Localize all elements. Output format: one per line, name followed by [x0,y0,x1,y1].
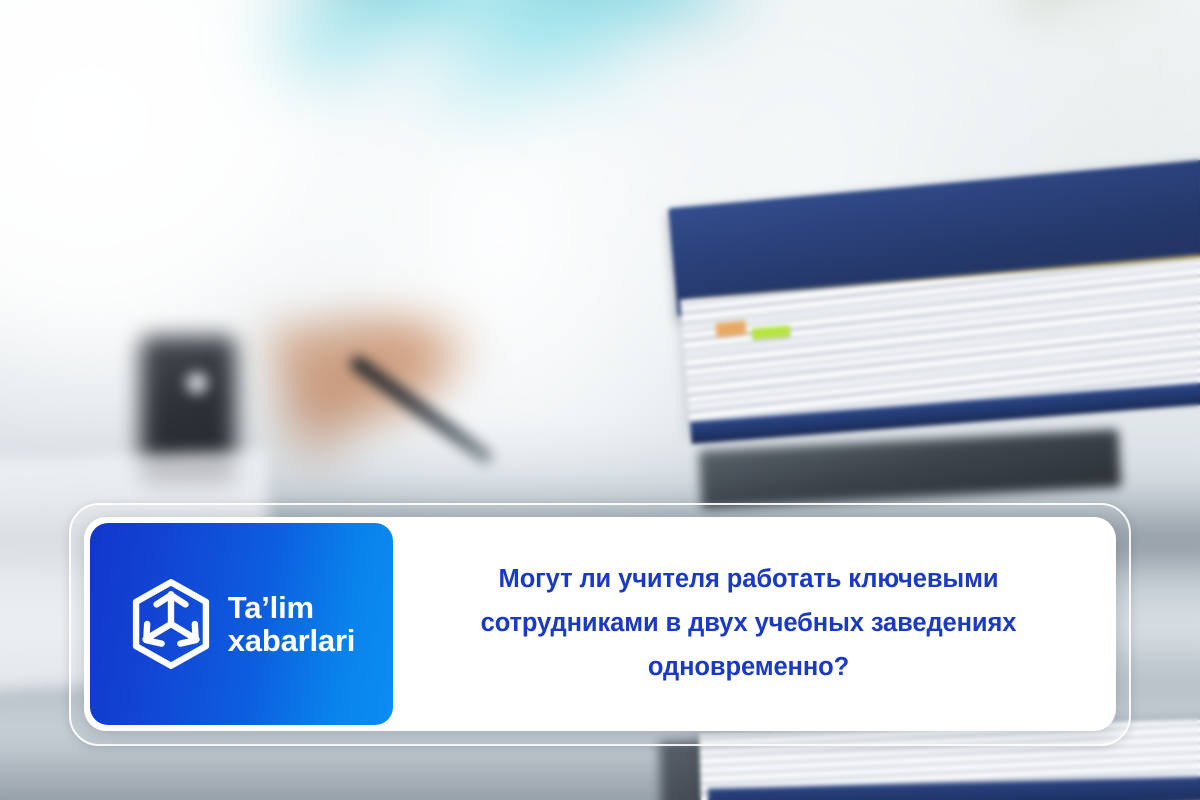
brand-panel[interactable]: Ta’lim xabarlari [90,523,393,725]
article-headline: Могут ли учителя работать ключевыми сотр… [429,558,1069,690]
brand-wordmark: Ta’lim xabarlari [228,591,355,658]
dark-object-highlight [186,372,208,394]
brand-name-line-1: Ta’lim [228,591,355,624]
cube-hexagon-icon [128,578,214,670]
brand-name-line-2: xabarlari [228,624,355,657]
poster-canvas: Ta’lim xabarlari Могут ли учителя работа… [0,0,1200,800]
headline-badge-card: Ta’lim xabarlari Могут ли учителя работа… [84,517,1116,731]
headline-container: Могут ли учителя работать ключевыми сотр… [393,517,1116,731]
